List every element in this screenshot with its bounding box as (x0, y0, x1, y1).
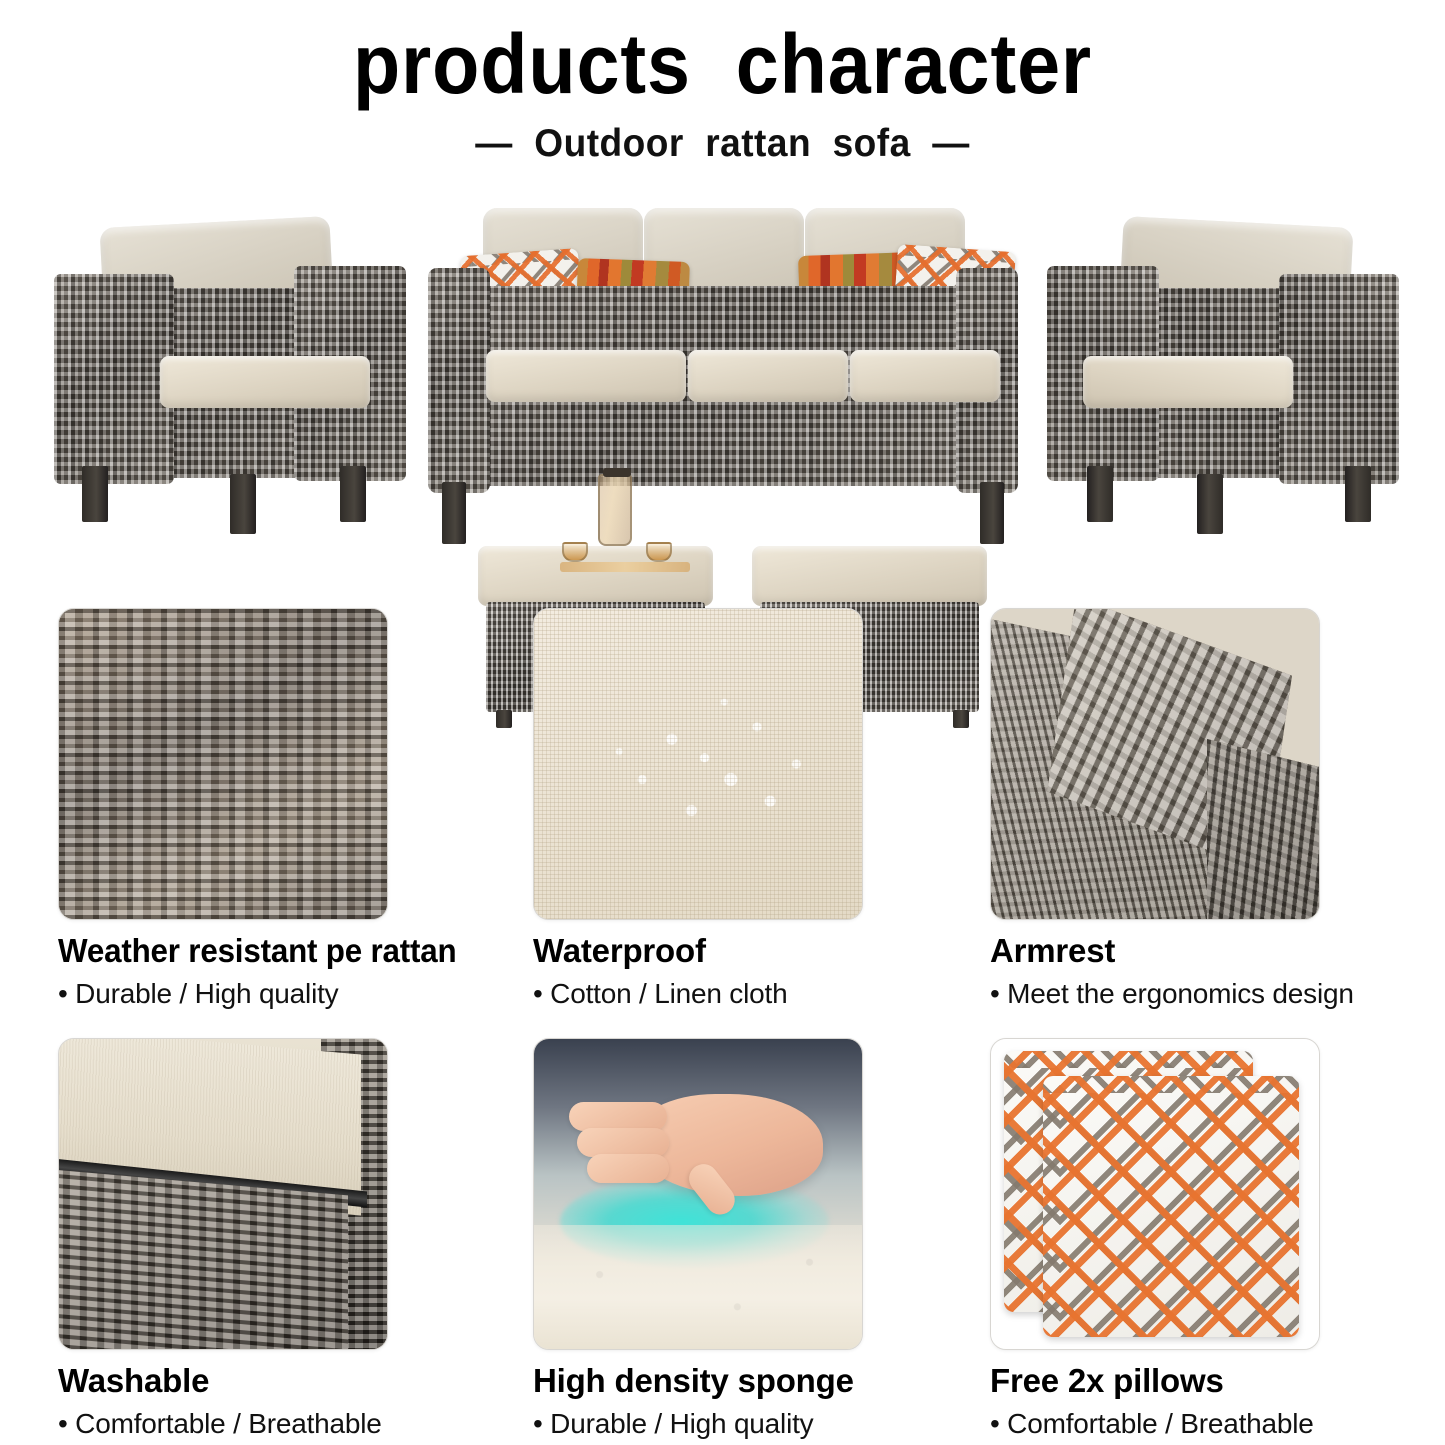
teacup (562, 542, 588, 562)
chair-leg (1197, 474, 1223, 534)
feature-image-washable (58, 1038, 388, 1350)
teapot-icon (598, 474, 632, 546)
feature-card-high-density-sponge: High density sponge • Durable / High qua… (533, 1038, 863, 1440)
finger (577, 1128, 669, 1157)
foam-surface (534, 1225, 862, 1349)
chair-leg (82, 466, 108, 522)
feature-card-washable: Washable • Comfortable / Breathable (58, 1038, 388, 1440)
finger (587, 1154, 669, 1183)
feature-image-rattan-weave (58, 608, 388, 920)
feature-image-pillows (990, 1038, 1320, 1350)
feature-image-water-beads (533, 608, 863, 920)
infographic-page: products character — Outdoor rattan sofa… (0, 0, 1445, 1445)
feature-row-1: Weather resistant pe rattan • Durable / … (0, 608, 1445, 1038)
teacup (646, 542, 672, 562)
page-title: products character (58, 22, 1387, 106)
feature-subtitle: • Cotton / Linen cloth (533, 978, 863, 1010)
feature-subtitle: • Comfortable / Breathable (58, 1408, 388, 1440)
three-seat-sofa (428, 190, 1018, 560)
page-subtitle: — Outdoor rattan sofa — (36, 122, 1409, 166)
feature-image-armrest (990, 608, 1320, 920)
hand-icon (567, 1076, 823, 1206)
sofa-seat-cushion (688, 350, 848, 402)
chair-leg (340, 466, 366, 522)
armrest-left (54, 274, 174, 484)
feature-subtitle: • Durable / High quality (58, 978, 388, 1010)
feature-image-sponge (533, 1038, 863, 1350)
sofa-armrest-left (428, 268, 490, 493)
cushion-zipper-edge-texture (59, 1039, 387, 1349)
chair-leg (230, 474, 256, 534)
chair-leg (1087, 466, 1113, 522)
feature-subtitle: • Meet the ergonomics design (990, 978, 1320, 1010)
feature-card-armrest: Armrest • Meet the ergonomics design (990, 608, 1320, 1010)
feature-title: High density sponge (533, 1362, 863, 1400)
feature-title: Washable (58, 1362, 388, 1400)
feature-card-free-pillows: Free 2x pillows • Comfortable / Breathab… (990, 1038, 1320, 1440)
seat-cushion (1083, 356, 1293, 408)
woven-armrest-corner-texture (991, 609, 1319, 919)
header: products character — Outdoor rattan sofa… (0, 0, 1445, 166)
sofa-leg (980, 482, 1004, 544)
hand-pressing-memory-foam-texture (534, 1039, 862, 1349)
orange-diamond-pillows-texture (991, 1039, 1319, 1349)
tea-set (560, 474, 690, 566)
feature-row-2: Washable • Comfortable / Breathable (0, 1038, 1445, 1445)
water-beads-on-linen-texture (534, 609, 862, 919)
feature-subtitle: • Durable / High quality (533, 1408, 863, 1440)
feature-card-waterproof: Waterproof • Cotton / Linen cloth (533, 608, 863, 1010)
feature-title: Waterproof (533, 932, 863, 970)
feature-title: Free 2x pillows (990, 1362, 1320, 1400)
rattan-base-weave (59, 1169, 348, 1349)
rattan-weave-texture (59, 609, 387, 919)
armchair-left (48, 178, 408, 538)
finger (569, 1102, 666, 1131)
ottoman-cushion (752, 546, 987, 606)
feature-card-weather-resistant: Weather resistant pe rattan • Durable / … (58, 608, 388, 1010)
chair-leg (1345, 466, 1371, 522)
sofa-seat-cushion (486, 350, 686, 402)
armrest-left (1279, 274, 1399, 484)
armrest-front-panel (1207, 739, 1319, 919)
feature-title: Armrest (990, 932, 1320, 970)
seat-cushion (160, 356, 370, 408)
feature-title: Weather resistant pe rattan (58, 932, 372, 970)
feature-subtitle: • Comfortable / Breathable (990, 1408, 1320, 1440)
feature-grid: Weather resistant pe rattan • Durable / … (0, 608, 1445, 1445)
armchair-right (1045, 178, 1405, 538)
pillow-front (1043, 1076, 1299, 1336)
tea-tray (560, 562, 690, 572)
sofa-leg (442, 482, 466, 544)
hero-product-image (0, 178, 1445, 578)
sofa-seat-cushion (850, 350, 1000, 402)
